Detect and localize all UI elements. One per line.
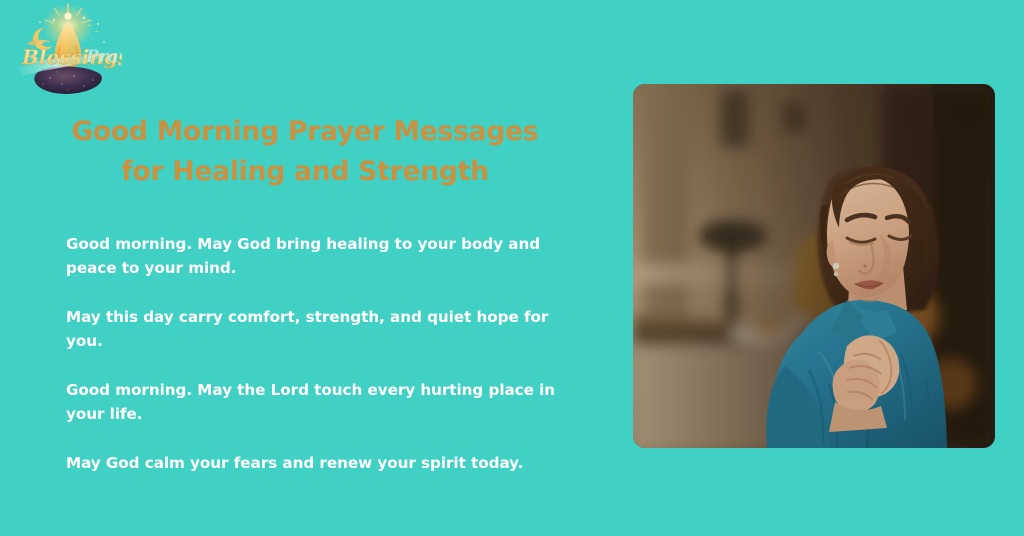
logo-wordmark-suffix: Pray — [85, 47, 122, 67]
list-item: Good morning. May God bring healing to y… — [66, 232, 581, 280]
praying-woman-photo — [633, 84, 995, 448]
list-item: May God calm your fears and renew your s… — [66, 451, 581, 475]
list-item: Good morning. May the Lord touch every h… — [66, 378, 581, 426]
logo-artwork: Blessings Pray — [10, 2, 122, 98]
page-title: Good Morning Prayer Messages for Healing… — [0, 112, 610, 192]
blessingspray-logo[interactable]: Blessings Pray — [10, 2, 122, 98]
prayer-message-list: Good morning. May God bring healing to y… — [66, 232, 581, 475]
poster-canvas: Blessings Pray Good Morning Prayer Messa… — [0, 0, 1024, 536]
photo-artwork — [633, 84, 995, 448]
content-column: Good Morning Prayer Messages for Healing… — [0, 112, 610, 492]
list-item: May this day carry comfort, strength, an… — [66, 305, 581, 353]
